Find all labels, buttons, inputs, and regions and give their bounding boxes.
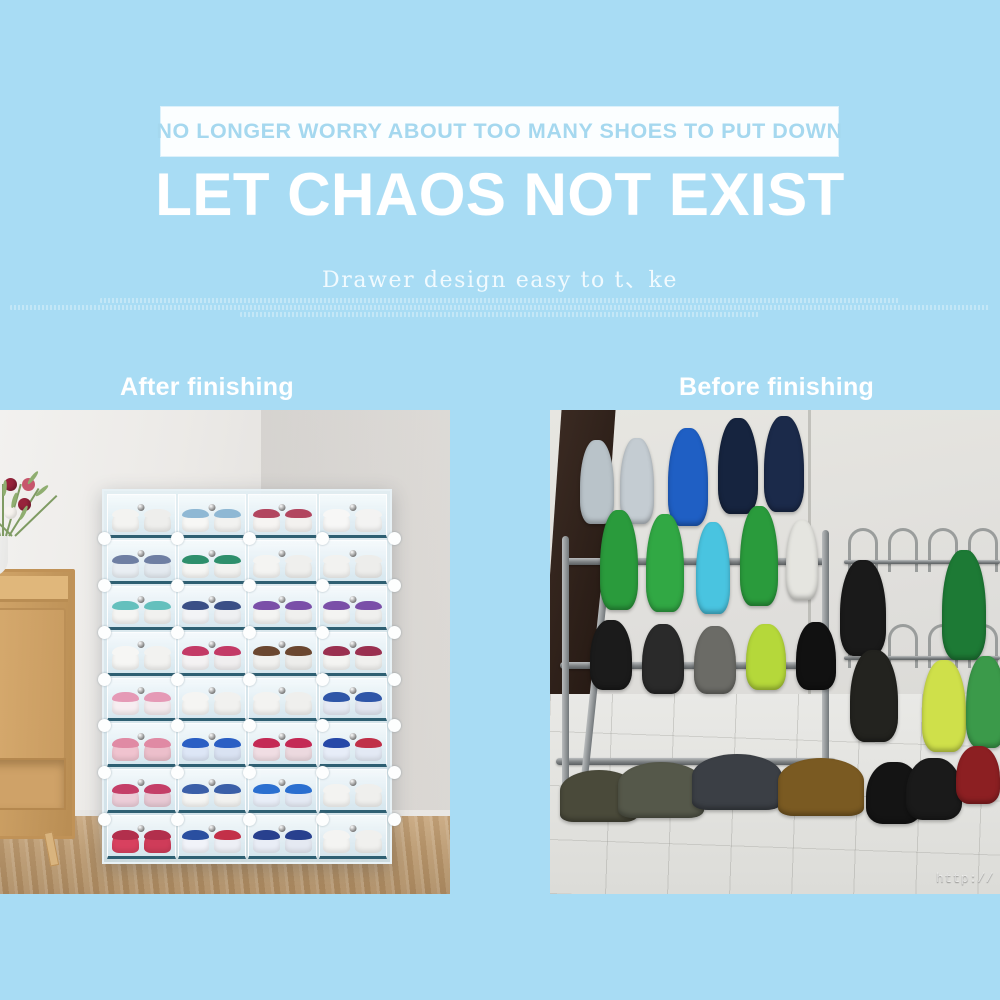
shoe-box-cell [178, 632, 247, 676]
microtext-line [100, 298, 900, 303]
shoe [694, 626, 736, 694]
shoe-toecap [182, 601, 209, 611]
shoe-toecap [112, 509, 139, 519]
shoe-box-cell [248, 678, 317, 722]
shoe-toecap [355, 692, 382, 702]
shoe [112, 601, 139, 624]
box-knob-icon [349, 825, 356, 832]
shoe-box-cell [178, 769, 247, 813]
shoe-toecap [355, 509, 382, 519]
shoe [668, 428, 708, 526]
shoe [942, 550, 986, 660]
shoe-box-cell [248, 494, 317, 538]
photo-watermark: http:// [936, 871, 994, 886]
box-knob-icon [349, 779, 356, 786]
shoe [642, 624, 684, 694]
shoe [144, 738, 171, 761]
box-knob-icon [208, 550, 215, 557]
box-knob-icon [138, 733, 145, 740]
decorative-microtext [0, 296, 1000, 319]
shoe-toecap [214, 509, 241, 519]
shoe [144, 784, 171, 807]
label-before-finishing: Before finishing [679, 373, 874, 402]
microtext-line [10, 305, 990, 310]
shoe-toecap [112, 555, 139, 565]
box-knob-icon [349, 641, 356, 648]
shoe [182, 830, 209, 853]
shoe-box-cell [319, 540, 388, 584]
shoe-toecap [355, 738, 382, 748]
shoe [355, 738, 382, 761]
shoe [906, 758, 962, 820]
box-knob-icon [138, 779, 145, 786]
shoe [112, 555, 139, 578]
shoe-toecap [355, 830, 382, 840]
box-knob-icon [349, 550, 356, 557]
subtitle-text: Drawer design easy to t、ke [0, 262, 1000, 294]
shoe-toecap [182, 692, 209, 702]
box-knob-icon [208, 504, 215, 511]
shoe [692, 754, 782, 810]
shoe [285, 738, 312, 761]
shoe-box-cell [107, 632, 176, 676]
shoe-toecap [253, 692, 280, 702]
shoe [285, 784, 312, 807]
box-knob-icon [138, 825, 145, 832]
shoe [253, 784, 280, 807]
shoe [214, 601, 241, 624]
shoe-box-cell [107, 815, 176, 859]
flower-leaf [2, 480, 7, 496]
box-knob-icon [349, 687, 356, 694]
shoe [253, 830, 280, 853]
shoe-toecap [144, 509, 171, 519]
shoe-toecap [355, 555, 382, 565]
box-knob-icon [279, 596, 286, 603]
shoe-toecap [355, 784, 382, 794]
shoe-box-cell [319, 769, 388, 813]
shoe [285, 601, 312, 624]
shoe [323, 555, 350, 578]
shoe [182, 784, 209, 807]
box-knob-icon [279, 504, 286, 511]
shoe-toecap [144, 555, 171, 565]
shoe-toecap [285, 555, 312, 565]
shoe-toecap [144, 738, 171, 748]
shoe [112, 509, 139, 532]
shoe [182, 601, 209, 624]
clear-shoe-box-cabinet [102, 489, 392, 864]
shoe [355, 646, 382, 669]
wire-hook [888, 528, 918, 572]
shoe-toecap [323, 830, 350, 840]
shoe-box-cell [107, 540, 176, 584]
flower-bloom [4, 506, 17, 519]
shoe [580, 440, 614, 524]
tagline-banner: NO LONGER WORRY ABOUT TOO MANY SHOES TO … [161, 107, 838, 156]
shoe [144, 601, 171, 624]
shoe-box-cell [178, 540, 247, 584]
shoe-box-cell [107, 769, 176, 813]
shoe-box-cell [248, 769, 317, 813]
sideboard-top-shelf [0, 576, 68, 602]
shoe-toecap [214, 601, 241, 611]
shoe-toecap [253, 646, 280, 656]
box-knob-icon [208, 779, 215, 786]
box-knob-icon [349, 596, 356, 603]
shoe-toecap [323, 555, 350, 565]
shoe-toecap [182, 555, 209, 565]
shoe [285, 509, 312, 532]
shoe-toecap [323, 784, 350, 794]
shoe-toecap [323, 509, 350, 519]
box-knob-icon [138, 641, 145, 648]
sideboard-door [0, 608, 66, 760]
box-knob-icon [349, 733, 356, 740]
promo-page: NO LONGER WORRY ABOUT TOO MANY SHOES TO … [0, 0, 1000, 1000]
shoe-box-cell [319, 494, 388, 538]
shoe-toecap [182, 830, 209, 840]
shoe-box-cell [107, 723, 176, 767]
shoe-toecap [323, 646, 350, 656]
shoe [590, 620, 632, 690]
shoe [214, 784, 241, 807]
shoe-box-cell [178, 494, 247, 538]
shoe-toecap [144, 784, 171, 794]
shoe [355, 784, 382, 807]
shoe [966, 656, 1000, 748]
shoe-toecap [182, 509, 209, 519]
shoe [214, 646, 241, 669]
box-knob-icon [208, 687, 215, 694]
wooden-sideboard [0, 569, 75, 839]
shoe [646, 514, 684, 612]
shoe [840, 560, 886, 656]
shoe [112, 784, 139, 807]
shoe-toecap [285, 646, 312, 656]
flower-stem [0, 487, 1, 536]
shoe-toecap [355, 646, 382, 656]
shoe-toecap [285, 601, 312, 611]
shoe-toecap [112, 646, 139, 656]
shoe-toecap [323, 738, 350, 748]
shoe-toecap [112, 738, 139, 748]
shoe [144, 830, 171, 853]
shoe-toecap [253, 509, 280, 519]
shoe [214, 555, 241, 578]
shoe-toecap [285, 738, 312, 748]
photo-after-finishing [0, 410, 450, 894]
microtext-line [240, 312, 760, 317]
shoe [600, 510, 638, 610]
shoe [778, 758, 864, 816]
shoe [285, 692, 312, 715]
box-knob-icon [208, 733, 215, 740]
shoe [323, 784, 350, 807]
shoe-toecap [253, 555, 280, 565]
shoe-toecap [285, 830, 312, 840]
shoe [746, 624, 786, 690]
shoe-box-cell [178, 586, 247, 630]
shoe-toecap [182, 738, 209, 748]
shoe-toecap [214, 646, 241, 656]
shoe [796, 622, 836, 690]
shoe-box-cell [248, 586, 317, 630]
shoe-box-cell [248, 723, 317, 767]
shoe [253, 738, 280, 761]
shoe-toecap [323, 692, 350, 702]
shoe-box-cell [107, 586, 176, 630]
shoe [214, 509, 241, 532]
box-knob-icon [279, 687, 286, 694]
page-title: LET CHAOS NOT EXIST [0, 163, 1000, 228]
sideboard-open-shelf [0, 758, 66, 810]
shoe [144, 646, 171, 669]
shoe-toecap [285, 692, 312, 702]
shoe [182, 555, 209, 578]
shoe [253, 646, 280, 669]
shoe-box-cell [178, 815, 247, 859]
box-knob-icon [279, 779, 286, 786]
shoe [718, 418, 758, 514]
shoe [355, 692, 382, 715]
box-knob-icon [349, 504, 356, 511]
shoe-box-cell [319, 586, 388, 630]
shoe-toecap [214, 738, 241, 748]
shoe [740, 506, 778, 606]
shoe [355, 509, 382, 532]
shoe [323, 646, 350, 669]
shoe [285, 555, 312, 578]
shoe [355, 601, 382, 624]
shoe-toecap [285, 509, 312, 519]
box-knob-icon [208, 596, 215, 603]
shoe [112, 646, 139, 669]
shoe-box-cell [319, 678, 388, 722]
shoe [182, 692, 209, 715]
box-knob-icon [279, 641, 286, 648]
photo-before-finishing: http:// [550, 410, 1000, 894]
shoe-toecap [144, 830, 171, 840]
shoe [253, 601, 280, 624]
box-knob-icon [138, 596, 145, 603]
shoe-box-cell [319, 815, 388, 859]
box-knob-icon [208, 825, 215, 832]
shoe [850, 650, 898, 742]
shoe-toecap [144, 601, 171, 611]
shoe-toecap [112, 830, 139, 840]
shoe [696, 522, 730, 614]
shoe-box-cell [107, 494, 176, 538]
label-after-finishing: After finishing [120, 373, 294, 402]
shoe [323, 601, 350, 624]
shoe-box-cell [248, 632, 317, 676]
shoe-toecap [285, 784, 312, 794]
shoe [764, 416, 804, 512]
shoe-toecap [253, 784, 280, 794]
shoe-box-cell [178, 678, 247, 722]
shoe [956, 746, 1000, 804]
shoe-toecap [323, 601, 350, 611]
shoe-box-cell [178, 723, 247, 767]
shoe-toecap [214, 830, 241, 840]
shoe [182, 509, 209, 532]
shoe [323, 738, 350, 761]
box-knob-icon [279, 550, 286, 557]
shoe-box-cell [248, 815, 317, 859]
box-knob-icon [138, 687, 145, 694]
shoe-box-cell [107, 678, 176, 722]
shoe [214, 738, 241, 761]
shoe-toecap [355, 601, 382, 611]
shoe [214, 830, 241, 853]
box-knob-icon [138, 550, 145, 557]
box-knob-icon [279, 733, 286, 740]
wire-hook [888, 624, 918, 668]
shoe-box-cell [319, 723, 388, 767]
shoe [144, 555, 171, 578]
shoe [355, 830, 382, 853]
shoe-toecap [214, 692, 241, 702]
shoe [112, 738, 139, 761]
box-knob-icon [208, 641, 215, 648]
shoe [144, 692, 171, 715]
shoe-toecap [253, 601, 280, 611]
box-knob-icon [279, 825, 286, 832]
shoe-toecap [214, 784, 241, 794]
shoe [182, 646, 209, 669]
shoe [182, 738, 209, 761]
shoe [253, 555, 280, 578]
shoe-toecap [214, 555, 241, 565]
flower-bouquet [0, 448, 48, 536]
shoe [355, 555, 382, 578]
shoe-toecap [253, 738, 280, 748]
shoe [922, 660, 966, 752]
shoe-toecap [112, 784, 139, 794]
shoe-toecap [112, 601, 139, 611]
shoe [144, 509, 171, 532]
shoe [214, 692, 241, 715]
shoe [112, 692, 139, 715]
shoe [285, 830, 312, 853]
shoe-toecap [144, 646, 171, 656]
shoe [112, 830, 139, 853]
shoe [285, 646, 312, 669]
shoe-toecap [112, 692, 139, 702]
shoe [323, 830, 350, 853]
tagline-text: NO LONGER WORRY ABOUT TOO MANY SHOES TO … [156, 119, 842, 144]
box-knob-icon [138, 504, 145, 511]
shoe-toecap [182, 646, 209, 656]
shoe-box-cell [319, 632, 388, 676]
shoe [786, 520, 818, 600]
rack-leg [562, 536, 569, 786]
shoe-toecap [182, 784, 209, 794]
shoe [323, 692, 350, 715]
shoe-toecap [253, 830, 280, 840]
shoe-toecap [144, 692, 171, 702]
shoe [253, 509, 280, 532]
shoe [323, 509, 350, 532]
shoe-box-cell [248, 540, 317, 584]
shoe [253, 692, 280, 715]
